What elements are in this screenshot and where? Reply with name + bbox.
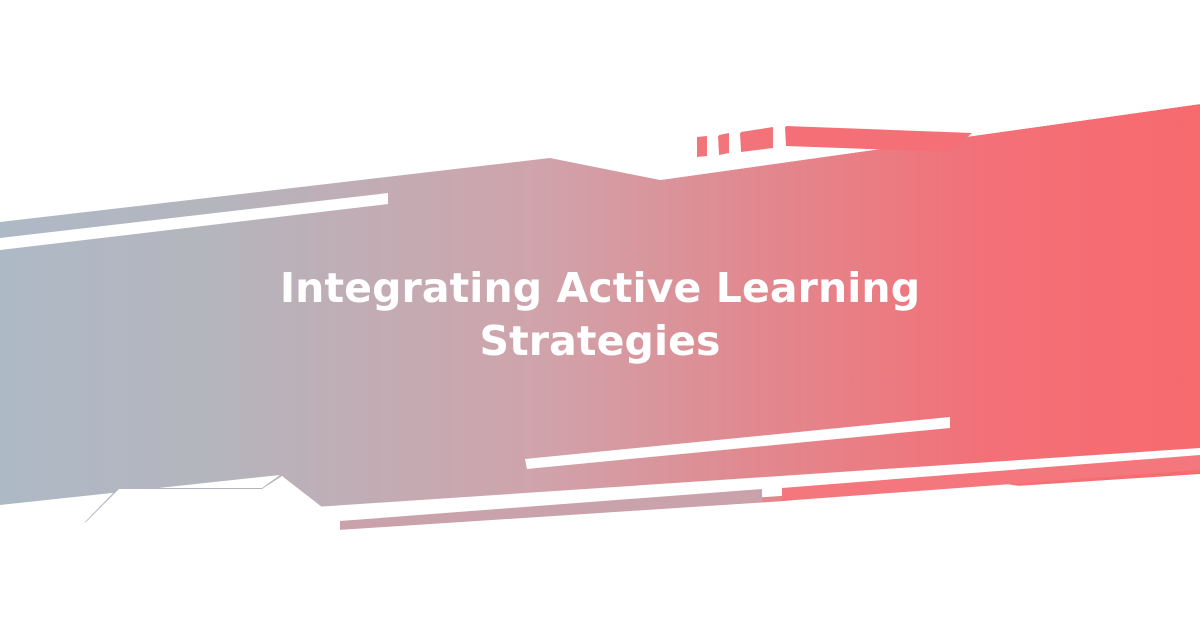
banner-graphic [0,0,1200,630]
banner-root: Integrating Active Learning Strategies [0,0,1200,630]
